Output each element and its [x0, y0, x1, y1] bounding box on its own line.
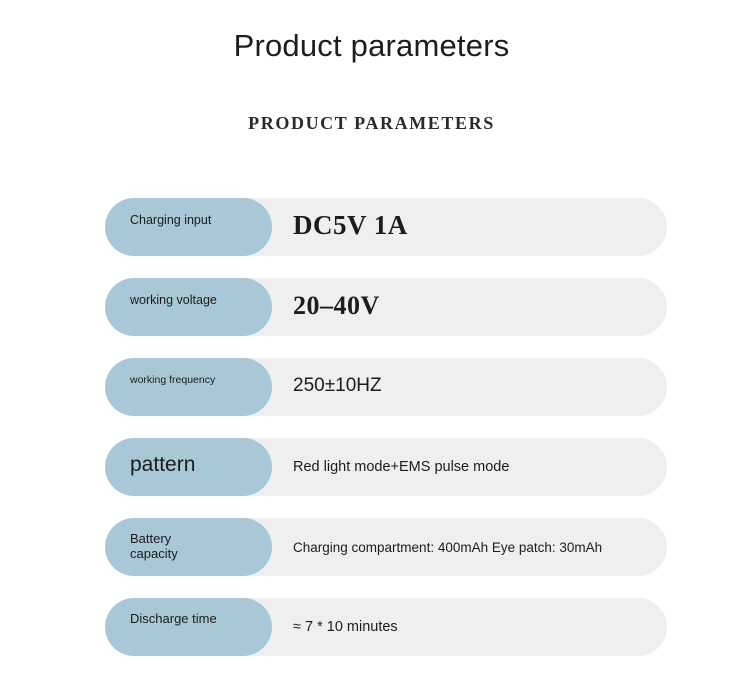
spec-row-pattern: pattern Red light mode+EMS pulse mode — [105, 438, 667, 496]
spec-row-battery-capacity: Battery capacity Charging compartment: 4… — [105, 518, 667, 576]
spec-value: Charging compartment: 400mAh Eye patch: … — [293, 540, 602, 555]
row-label-pill — [105, 278, 272, 336]
spec-row-working-frequency: working frequency 250±10HZ — [105, 358, 667, 416]
row-label-pill — [105, 358, 272, 416]
row-label-pill — [105, 598, 272, 656]
page-title: Product parameters — [0, 28, 743, 64]
spec-value: DC5V 1A — [293, 210, 408, 241]
spec-value: Red light mode+EMS pulse mode — [293, 459, 509, 475]
spec-list: Charging input DC5V 1A working voltage 2… — [105, 198, 667, 678]
product-parameters-page: Product parameters PRODUCT PARAMETERS Ch… — [0, 0, 743, 680]
page-subtitle: PRODUCT PARAMETERS — [0, 113, 743, 134]
spec-label: working frequency — [130, 375, 657, 387]
spec-value: ≈ 7 * 10 minutes — [293, 619, 398, 635]
spec-value: 250±10HZ — [293, 375, 382, 397]
spec-value: 20‒40V — [293, 291, 380, 321]
row-label-pill — [105, 198, 272, 256]
spec-row-discharge-time: Discharge time ≈ 7 * 10 minutes — [105, 598, 667, 656]
spec-row-working-voltage: working voltage 20‒40V — [105, 278, 667, 336]
spec-label: working voltage — [130, 293, 657, 307]
spec-row-charging-input: Charging input DC5V 1A — [105, 198, 667, 256]
